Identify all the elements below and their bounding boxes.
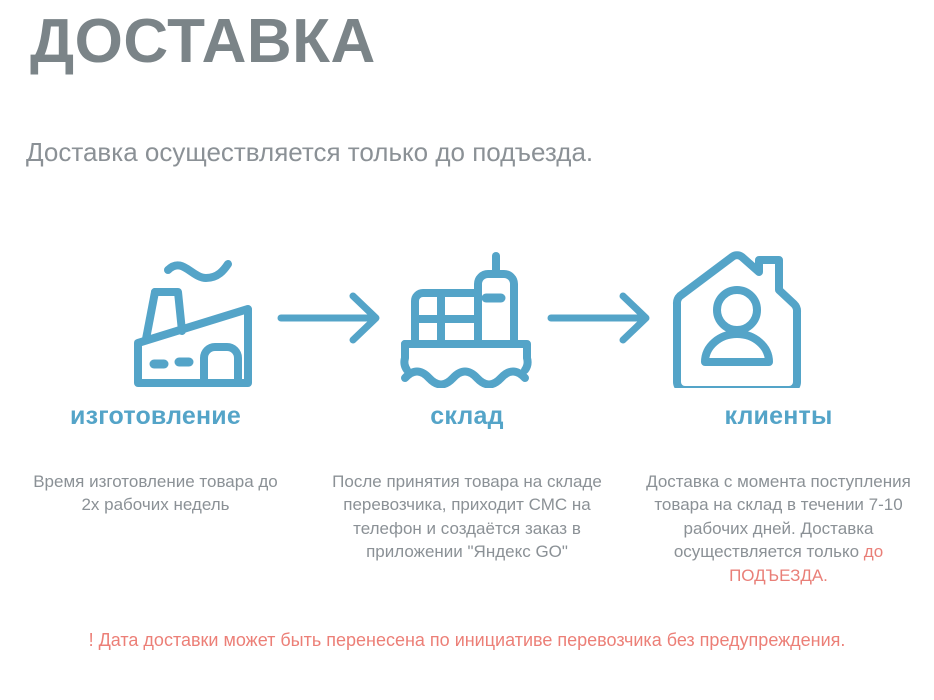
flow-step-3-description: Доставка с момента поступления товара на… (623, 470, 934, 587)
flow-arrow-2-wrap (542, 288, 662, 348)
flow-step-descriptions: Время изготовление товара до 2х рабочих … (0, 470, 934, 587)
flow-arrow-1-wrap (272, 288, 392, 348)
page-title: ДОСТАВКА (30, 8, 376, 76)
delivery-flow-diagram (0, 243, 934, 393)
flow-step-1-description: Время изготовление товара до 2х рабочих … (0, 470, 311, 517)
flow-step-1-label: изготовление (0, 402, 311, 431)
flow-step-3-label: клиенты (623, 402, 934, 431)
delivery-warning-note: ! Дата доставки может быть перенесена по… (60, 628, 874, 652)
factory-icon (130, 248, 265, 388)
flow-step-labels: изготовление склад клиенты (0, 402, 934, 431)
page-subtitle: Доставка осуществляется только до подъез… (26, 135, 646, 170)
flow-step-2-icon-wrap (392, 246, 542, 391)
delivery-slide: ДОСТАВКА Доставка осуществляется только … (0, 0, 934, 700)
arrow-right-icon (547, 290, 657, 346)
house-client-icon (667, 248, 807, 388)
arrow-right-icon (277, 290, 387, 346)
cargo-ship-icon (397, 248, 537, 388)
flow-step-2-label: склад (311, 402, 623, 431)
flow-step-1-icon-wrap (122, 246, 272, 391)
flow-step-3-icon-wrap (662, 246, 812, 391)
flow-step-2-description: После принятия товара на складе перевозч… (311, 470, 623, 564)
